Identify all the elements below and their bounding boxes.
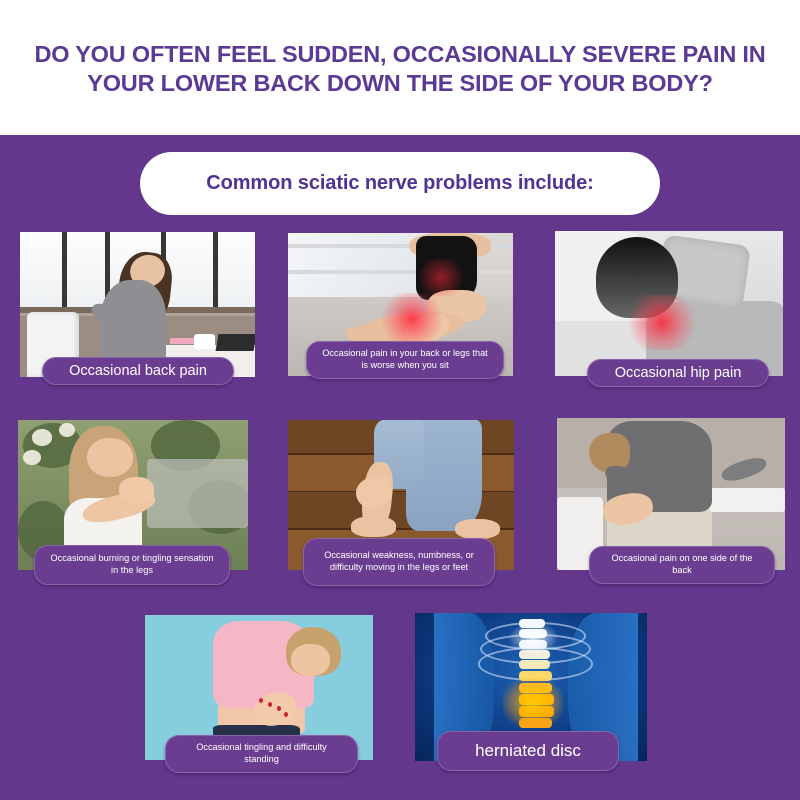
card-occasional-back-pain[interactable]: Occasional back pain [20,232,255,377]
subtitle-text: Common sciatic nerve problems include: [206,172,593,195]
card-caption: herniated disc [437,731,619,771]
photo-heat-pad-pain-glow [555,231,783,376]
sciatica-infographic-poster: DO YOU OFTEN FEEL SUDDEN, OCCASIONALLY S… [0,0,800,800]
card-pain-worse-when-sitting[interactable]: Occasional pain in your back or legs tha… [288,233,513,376]
card-burning-tingling-legs[interactable]: Occasional burning or tingling sensation… [18,420,248,570]
card-occasional-hip-pain[interactable]: Occasional hip pain [555,231,783,376]
card-caption: Occasional weakness, numbness, or diffic… [303,538,495,586]
card-pain-one-side-of-back[interactable]: Occasional pain on one side of the back [557,418,785,570]
card-caption: Occasional burning or tingling sensation… [34,545,230,585]
card-weakness-numbness-legs-feet[interactable]: Occasional weakness, numbness, or diffic… [288,420,514,570]
header-band: DO YOU OFTEN FEEL SUDDEN, OCCASIONALLY S… [0,0,800,135]
subtitle-pill: Common sciatic nerve problems include: [140,152,660,215]
card-caption: Occasional pain on one side of the back [589,546,775,584]
photo-woman-at-desk-holding-lower-back [20,232,255,377]
card-herniated-disc[interactable]: herniated disc [415,613,647,761]
page-headline: DO YOU OFTEN FEEL SUDDEN, OCCASIONALLY S… [30,38,770,97]
card-caption: Occasional back pain [42,357,234,385]
card-tingling-difficulty-standing[interactable]: Occasional tingling and difficulty stand… [145,615,373,760]
card-caption: Occasional hip pain [587,359,769,387]
card-caption: Occasional pain in your back or legs tha… [306,341,504,379]
card-caption: Occasional tingling and difficulty stand… [165,735,358,773]
